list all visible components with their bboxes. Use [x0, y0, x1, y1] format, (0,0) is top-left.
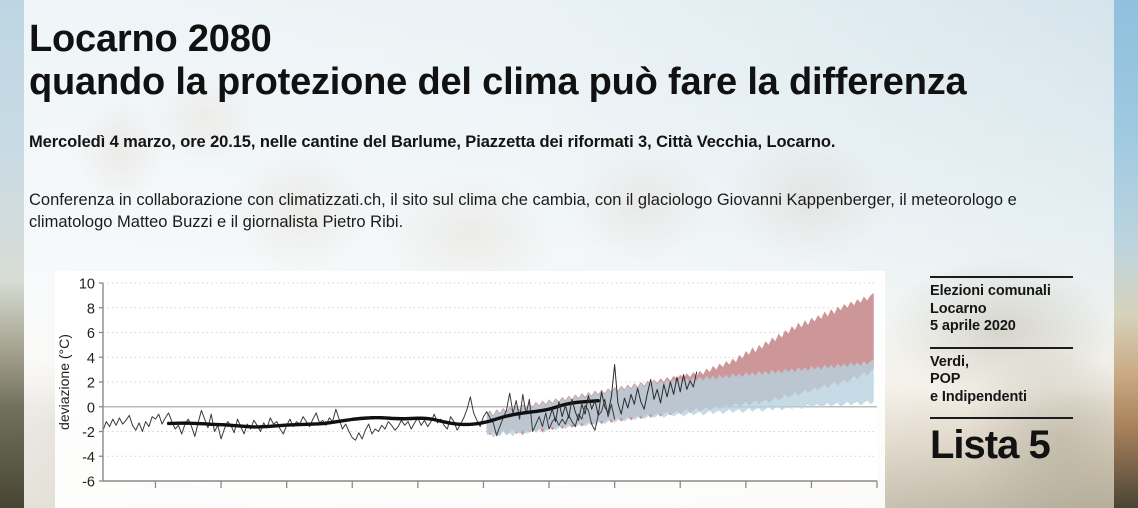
chart-y-tick-label: 8	[87, 301, 95, 317]
chart-y-tick-label: 10	[79, 277, 95, 293]
poster-root: Locarno 2080 quando la protezione del cl…	[0, 0, 1138, 508]
page-title: Locarno 2080 quando la protezione del cl…	[29, 18, 1114, 104]
chart-y-tick-label: 6	[87, 326, 95, 342]
chart-y-tick-label: -2	[82, 425, 95, 441]
party-name-line-1: Verdi,	[930, 354, 1080, 372]
chart-y-tick-label: -4	[82, 450, 95, 466]
chart-y-tick-label: -6	[82, 475, 95, 491]
chart-y-tick-label: 4	[87, 351, 95, 367]
title-line-2: quando la protezione del clima può fare …	[29, 61, 1114, 104]
election-sidebar: Elezioni comunali Locarno 5 aprile 2020 …	[930, 276, 1080, 477]
chart-y-tick-label: 0	[87, 400, 95, 416]
election-title: Elezioni comunali	[930, 283, 1080, 301]
election-date: 5 aprile 2020	[930, 318, 1080, 336]
list-number-label: Lista 5	[930, 424, 1080, 466]
climate-projection-chart: 1086420-2-4-6deviazione (°C)	[55, 271, 885, 508]
poster-content: Locarno 2080 quando la protezione del cl…	[0, 0, 1138, 508]
divider-rule-3	[930, 417, 1073, 419]
election-city: Locarno	[930, 301, 1080, 319]
divider-rule-2	[930, 347, 1073, 349]
sidebar-block-election: Elezioni comunali Locarno 5 aprile 2020	[930, 276, 1080, 336]
party-name-line-3: e Indipendenti	[930, 389, 1080, 407]
event-description-paragraph: Conferenza in collaborazione con climati…	[29, 189, 1039, 233]
event-details-line: Mercoledì 4 marzo, ore 20.15, nelle cant…	[29, 133, 1119, 152]
chart-y-axis-label: deviazione (°C)	[56, 334, 72, 430]
title-line-1: Locarno 2080	[29, 18, 272, 60]
chart-y-tick-label: 2	[87, 376, 95, 392]
divider-rule-1	[930, 276, 1073, 278]
sidebar-block-party: Verdi, POP e Indipendenti	[930, 347, 1080, 407]
climate-chart-panel: 1086420-2-4-6deviazione (°C)	[55, 271, 885, 508]
sidebar-block-list-number: Lista 5	[930, 417, 1080, 466]
party-name-line-2: POP	[930, 371, 1080, 389]
